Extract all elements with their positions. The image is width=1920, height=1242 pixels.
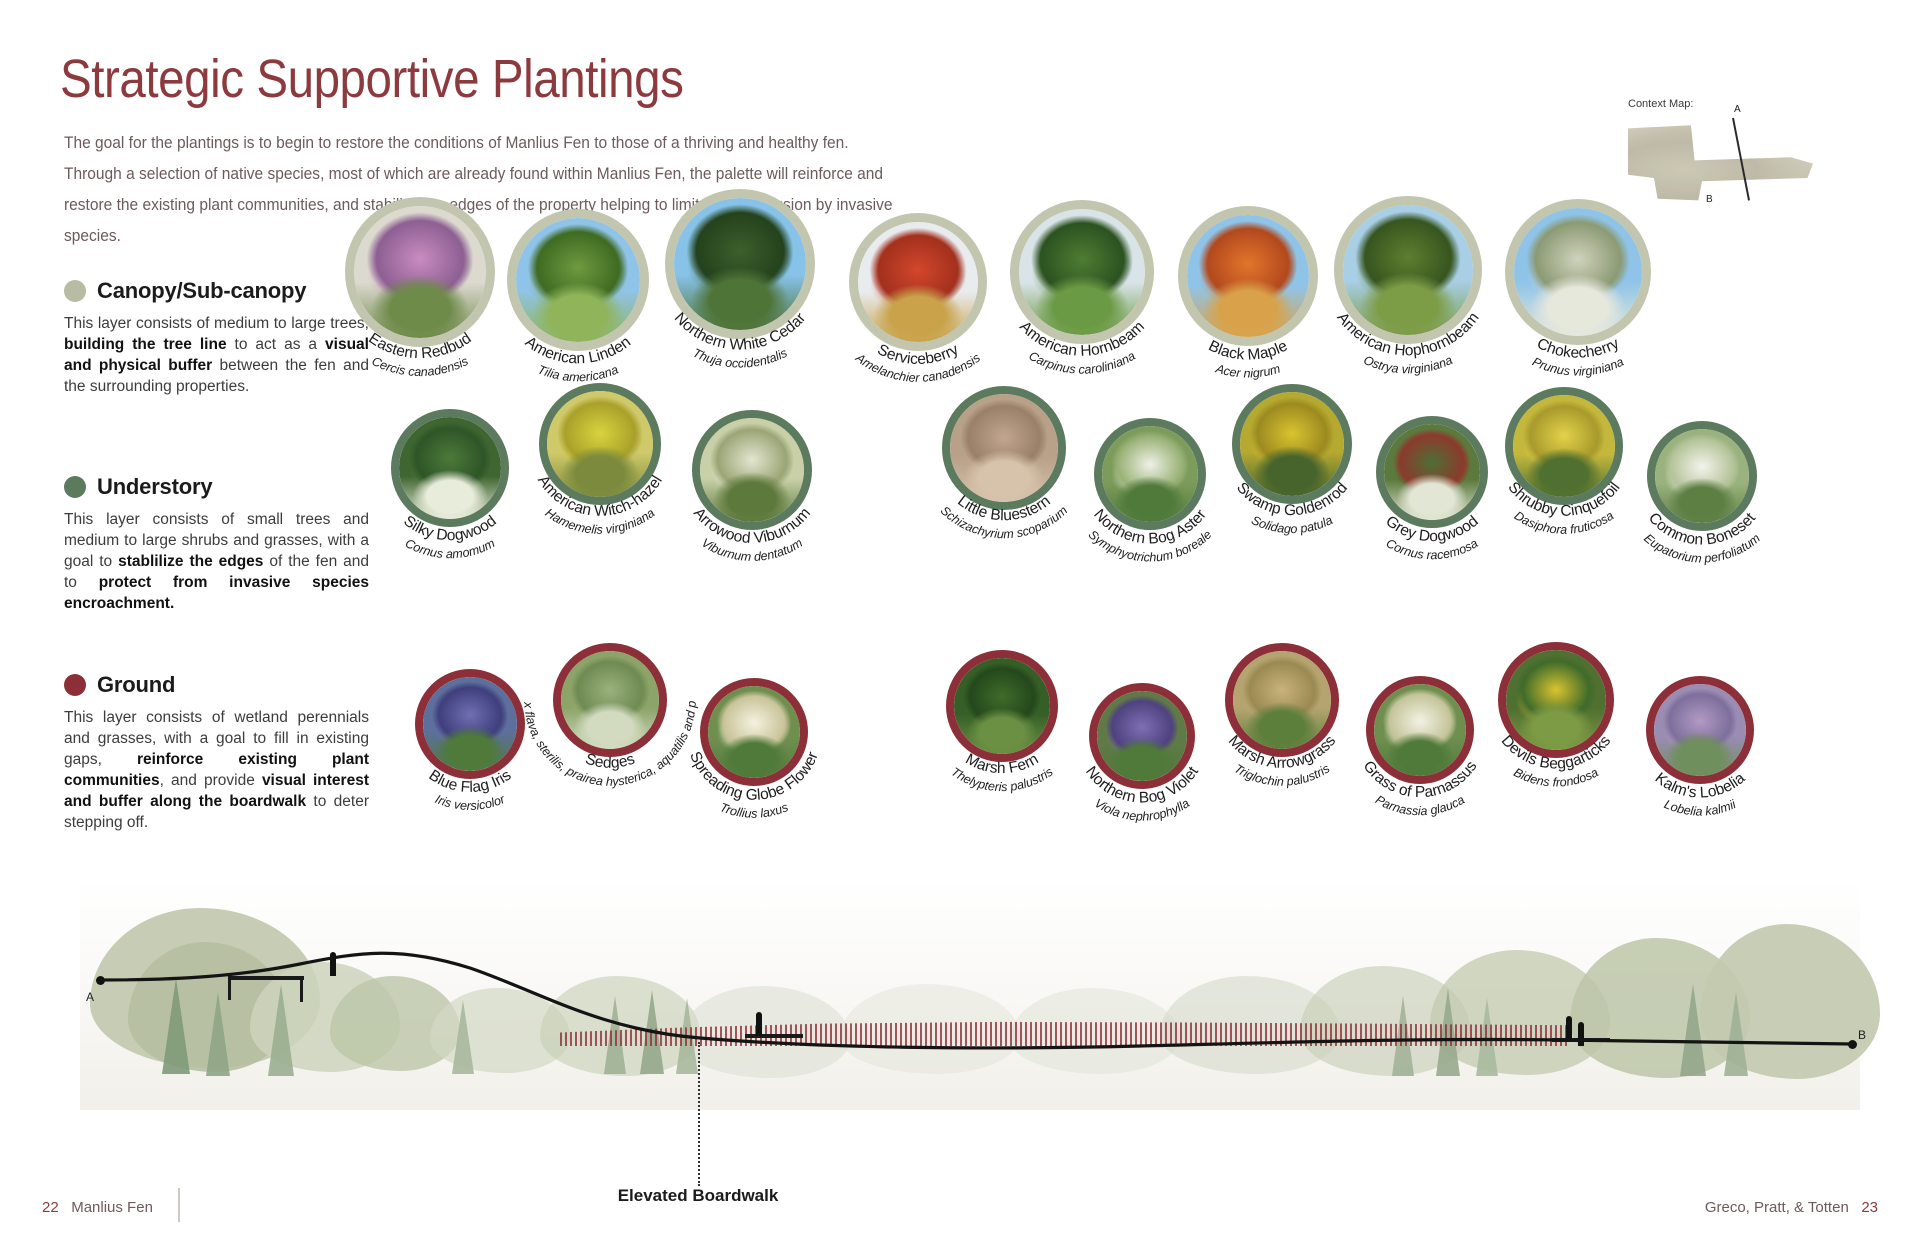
- plant-circle-grass-of-parnassus: Grass of ParnassusParnassia glauca: [1366, 676, 1474, 784]
- plant-photo-ring: [1225, 643, 1339, 757]
- layer-title-ground: Ground: [97, 672, 175, 698]
- footer-right: Greco, Pratt, & Totten 23: [1705, 1199, 1878, 1216]
- section-callout: Elevated Boardwalk: [618, 1186, 779, 1206]
- footer-project-name: Manlius Fen: [71, 1199, 153, 1216]
- plant-scientific-name: Cornus racemosa: [1384, 536, 1481, 562]
- layer-body-ground: This layer consists of wetland perennial…: [64, 707, 369, 833]
- plant-circle-swamp-goldenrod: Swamp GoldenrodSolidago patula: [1232, 384, 1352, 504]
- plant-photo-ring: [1232, 384, 1352, 504]
- plant-photo: [1343, 205, 1473, 335]
- plant-photo-ring: [1505, 387, 1623, 505]
- plant-photo: [547, 391, 653, 497]
- plant-circle-american-witch-hazel: American Witch-hazelHamemelis virginiana: [539, 383, 661, 505]
- layer-title-understory: Understory: [97, 474, 212, 500]
- plant-scientific-name: Cornus amomum: [403, 536, 497, 561]
- layer-dot-ground: [64, 674, 86, 696]
- plant-photo-ring: [665, 189, 815, 339]
- plant-circle-chokecherry: ChokecherryPrunus virginiana: [1505, 199, 1651, 345]
- plant-photo: [1233, 651, 1331, 749]
- plant-scientific-name: Hamemelis virginiana: [543, 506, 658, 537]
- page-title: Strategic Supportive Plantings: [60, 48, 683, 110]
- plant-photo-ring: [345, 197, 495, 347]
- plant-scientific-name: Viola nephrophylla: [1092, 796, 1192, 823]
- plant-circle-american-linden: American LindenTilia americana: [507, 209, 649, 351]
- plant-scientific-name: Lobelia kalmii: [1662, 797, 1739, 819]
- footer-page-right: 23: [1861, 1199, 1878, 1216]
- plant-photo-ring: [1366, 676, 1474, 784]
- plant-photo-ring: [942, 386, 1066, 510]
- plant-circle-northern-white-cedar: Northern White CedarThuja occidentalis: [665, 189, 815, 339]
- plant-circle-marsh-arrowgrass: Marsh ArrowgrassTriglochin palustris: [1225, 643, 1339, 757]
- plant-scientific-name: Parnassia glauca: [1373, 793, 1467, 819]
- section-ground-profile: [0, 880, 1920, 1180]
- plant-circle-eastern-redbud: Eastern RedbudCercis canadensis: [345, 197, 495, 347]
- plant-photo-ring: [1646, 676, 1754, 784]
- plant-circle-shrubby-cinquefoil: Shrubby CinquefoilDasiphora fruticosa: [1505, 387, 1623, 505]
- plant-scientific-name: Symphyotrichum boreale: [1086, 527, 1215, 564]
- plant-photo: [1506, 650, 1606, 750]
- plant-circle-arrowood-viburnum: Arrowood ViburnumViburnum dentatum: [692, 410, 812, 530]
- plant-scientific-name: Triglochin palustris: [1232, 761, 1333, 788]
- layer-dot-understory: [64, 476, 86, 498]
- plant-circle-devils-beggarticks: Devils BeggarticksBidens frondosa: [1498, 642, 1614, 758]
- plant-photo: [1240, 392, 1344, 496]
- plant-photo-ring: [1178, 206, 1318, 346]
- plant-scientific-name: Dasiphora fruticosa: [1512, 509, 1617, 537]
- plant-photo-ring: [946, 650, 1058, 762]
- plant-photo: [700, 418, 804, 522]
- plant-scientific-name: Thelypteris palustris: [948, 765, 1055, 795]
- plant-photo: [1384, 424, 1480, 520]
- plant-circle-northern-bog-violet: Northern Bog VioletViola nephrophylla: [1089, 683, 1195, 789]
- plant-scientific-name: Acer nigrum: [1213, 361, 1282, 380]
- plant-circle-american-hornbeam: American HornbeamCarpinus caroliniana: [1010, 200, 1154, 344]
- layer-block-understory: Understory This layer consists of small …: [64, 474, 369, 614]
- footer-divider: [178, 1188, 180, 1222]
- plant-photo: [354, 206, 486, 338]
- plant-photo-ring: [539, 383, 661, 505]
- plant-photo-ring: [1089, 683, 1195, 789]
- plant-circle-black-maple: Black MapleAcer nigrum: [1178, 206, 1318, 346]
- plant-photo-ring: [553, 643, 667, 757]
- plant-circle-spreading-globe-flower: Spreading Globe FlowerTrollius laxus: [700, 678, 808, 786]
- plant-photo: [858, 222, 978, 342]
- plant-circle-marsh-fern: Marsh FernThelypteris palustris: [946, 650, 1058, 762]
- plant-scientific-name: Amelanchier canadensis: [852, 350, 983, 385]
- plant-scientific-name: Iris versicolor: [433, 792, 508, 813]
- footer-left: 22 Manlius Fen: [42, 1199, 153, 1216]
- plant-scientific-name: Cercis canadensis: [370, 354, 471, 379]
- plant-photo: [1102, 426, 1198, 522]
- plant-circle-common-boneset: Common BonesetEupatorium perfoliatum: [1647, 421, 1757, 531]
- plant-photo-ring: [415, 669, 525, 779]
- plant-circle-little-bluestern: Little BluesternSchizachyrium scoparium: [942, 386, 1066, 510]
- plant-scientific-name: Tilia americana: [536, 362, 621, 384]
- context-map-point-a: A: [1734, 104, 1741, 115]
- plant-circle-kalm-s-lobelia: Kalm's LobeliaLobelia kalmii: [1646, 676, 1754, 784]
- plant-photo: [1514, 208, 1642, 336]
- plant-scientific-name: Bidens frondosa: [1511, 765, 1600, 789]
- layer-block-canopy: Canopy/Sub-canopy This layer consists of…: [64, 278, 369, 397]
- plant-circle-grey-dogwood: Grey DogwoodCornus racemosa: [1376, 416, 1488, 528]
- plant-scientific-name: Solidago patula: [1249, 513, 1335, 536]
- plant-scientific-name: Carpinus caroliniana: [1026, 349, 1137, 377]
- plant-photo-ring: [1334, 196, 1482, 344]
- plant-photo: [1019, 209, 1145, 335]
- plant-photo: [1654, 684, 1746, 776]
- layer-body-canopy: This layer consists of medium to large t…: [64, 313, 369, 397]
- layer-title-canopy: Canopy/Sub-canopy: [97, 278, 306, 304]
- plant-photo-ring: [692, 410, 812, 530]
- layer-dot-canopy: [64, 280, 86, 302]
- plant-photo: [1097, 691, 1187, 781]
- section-callout-leader: [698, 1042, 700, 1186]
- plant-scientific-name: Trollius laxus: [718, 800, 790, 821]
- plant-scientific-name: Eupatorium perfoliatum: [1641, 531, 1763, 566]
- plant-photo: [561, 651, 659, 749]
- plant-photo-ring: [849, 213, 987, 351]
- plant-photo: [708, 686, 800, 778]
- plant-photo: [423, 677, 517, 771]
- plant-scientific-name: Prunus virginiana: [1530, 355, 1626, 379]
- plant-circle-northern-bog-aster: Northern Bog AsterSymphyotrichum boreale: [1094, 418, 1206, 530]
- plant-photo: [674, 198, 806, 330]
- context-map: Context Map: A B: [1628, 98, 1888, 208]
- plant-photo-ring: [1010, 200, 1154, 344]
- plant-photo-ring: [700, 678, 808, 786]
- plant-scientific-name: Ostrya virginiana: [1361, 353, 1454, 377]
- plant-photo-ring: [1647, 421, 1757, 531]
- plant-photo: [1187, 215, 1309, 337]
- plant-photo: [1655, 429, 1749, 523]
- plant-circle-american-hophornbeam: American HophornbeamOstrya virginiana: [1334, 196, 1482, 344]
- plant-photo: [950, 394, 1058, 502]
- layer-body-understory: This layer consists of small trees and m…: [64, 509, 369, 614]
- plant-photo: [516, 218, 640, 342]
- context-map-image: [1628, 122, 1813, 202]
- section-diagram: AB Existing orchidareaExisting NorthernW…: [0, 880, 1920, 1180]
- plant-photo: [1513, 395, 1615, 497]
- plant-circle-serviceberry: ServiceberryAmelanchier canadensis: [849, 213, 987, 351]
- plant-photo-ring: [1094, 418, 1206, 530]
- plant-photo: [1374, 684, 1466, 776]
- plant-circle-blue-flag-iris: Blue Flag IrisIris versicolor: [415, 669, 525, 779]
- plant-photo-ring: [507, 209, 649, 351]
- plant-photo-ring: [1505, 199, 1651, 345]
- footer-authors: Greco, Pratt, & Totten: [1705, 1199, 1849, 1216]
- plant-circle-sedges: SedgesCarex flava, sterilis, prairea hys…: [553, 643, 667, 757]
- plant-scientific-name: Viburnum dentatum: [699, 536, 805, 564]
- plant-photo-ring: [1376, 416, 1488, 528]
- layer-block-ground: Ground This layer consists of wetland pe…: [64, 672, 369, 833]
- plant-circle-silky-dogwood: Silky DogwoodCornus amomum: [391, 409, 509, 527]
- plant-photo: [399, 417, 501, 519]
- footer-page-left: 22: [42, 1199, 59, 1216]
- plant-scientific-name: Thuja occidentalis: [691, 346, 790, 371]
- context-map-label: Context Map:: [1628, 98, 1693, 110]
- plant-photo: [954, 658, 1050, 754]
- plant-photo-ring: [391, 409, 509, 527]
- context-map-point-b: B: [1706, 194, 1713, 205]
- plant-photo-ring: [1498, 642, 1614, 758]
